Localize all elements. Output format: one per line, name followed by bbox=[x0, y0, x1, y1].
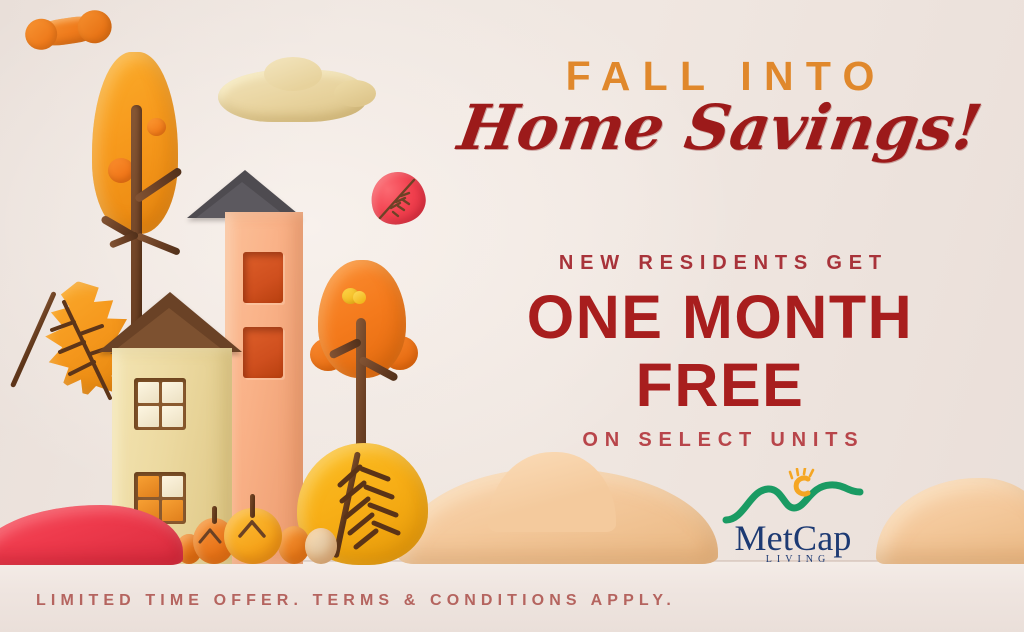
window-pane bbox=[138, 382, 159, 403]
pumpkin-stem-center bbox=[250, 494, 255, 518]
metcap-tagline: LIVING bbox=[723, 554, 873, 565]
window-pane bbox=[162, 500, 183, 521]
window-pane bbox=[138, 406, 159, 427]
window-pane bbox=[138, 476, 159, 497]
pumpkin-stem-left bbox=[212, 506, 217, 524]
window-pane bbox=[162, 476, 183, 497]
metcap-logo[interactable]: MetCap LIVING bbox=[718, 468, 868, 568]
red-leaf-icon bbox=[371, 172, 425, 224]
offer-headline: ONE MONTH FREE bbox=[440, 283, 1000, 420]
tall-tree-berry-small bbox=[147, 118, 166, 136]
offer-subline: ON SELECT UNITS bbox=[447, 429, 1000, 452]
metcap-sun-icon bbox=[782, 468, 822, 500]
promo-banner: FALL INTO Home Savings! NEW RESIDENTS GE… bbox=[0, 0, 1024, 632]
peach-building-window-upper bbox=[243, 252, 283, 303]
second-tree-berry-b bbox=[353, 291, 366, 304]
peach-building-window-lower bbox=[243, 327, 283, 378]
pumpkin-left-ribs bbox=[188, 528, 248, 568]
cream-cloud-icon bbox=[218, 70, 366, 122]
offer-eyebrow: NEW RESIDENTS GET bbox=[447, 252, 1000, 275]
disclaimer-text: LIMITED TIME OFFER. TERMS & CONDITIONS A… bbox=[36, 592, 676, 610]
window-pane bbox=[162, 406, 183, 427]
window-pane bbox=[162, 382, 183, 403]
metcap-wordmark: MetCap bbox=[718, 520, 868, 556]
offer-block: NEW RESIDENTS GET ONE MONTH FREE ON SELE… bbox=[440, 252, 1000, 452]
beige-house-window-upper bbox=[134, 378, 186, 430]
pumpkin-cream bbox=[305, 528, 337, 564]
red-leaf-veins bbox=[371, 172, 425, 224]
headline-block: FALL INTO Home Savings! bbox=[440, 56, 1000, 156]
headline-script: Home Savings! bbox=[435, 99, 1004, 156]
